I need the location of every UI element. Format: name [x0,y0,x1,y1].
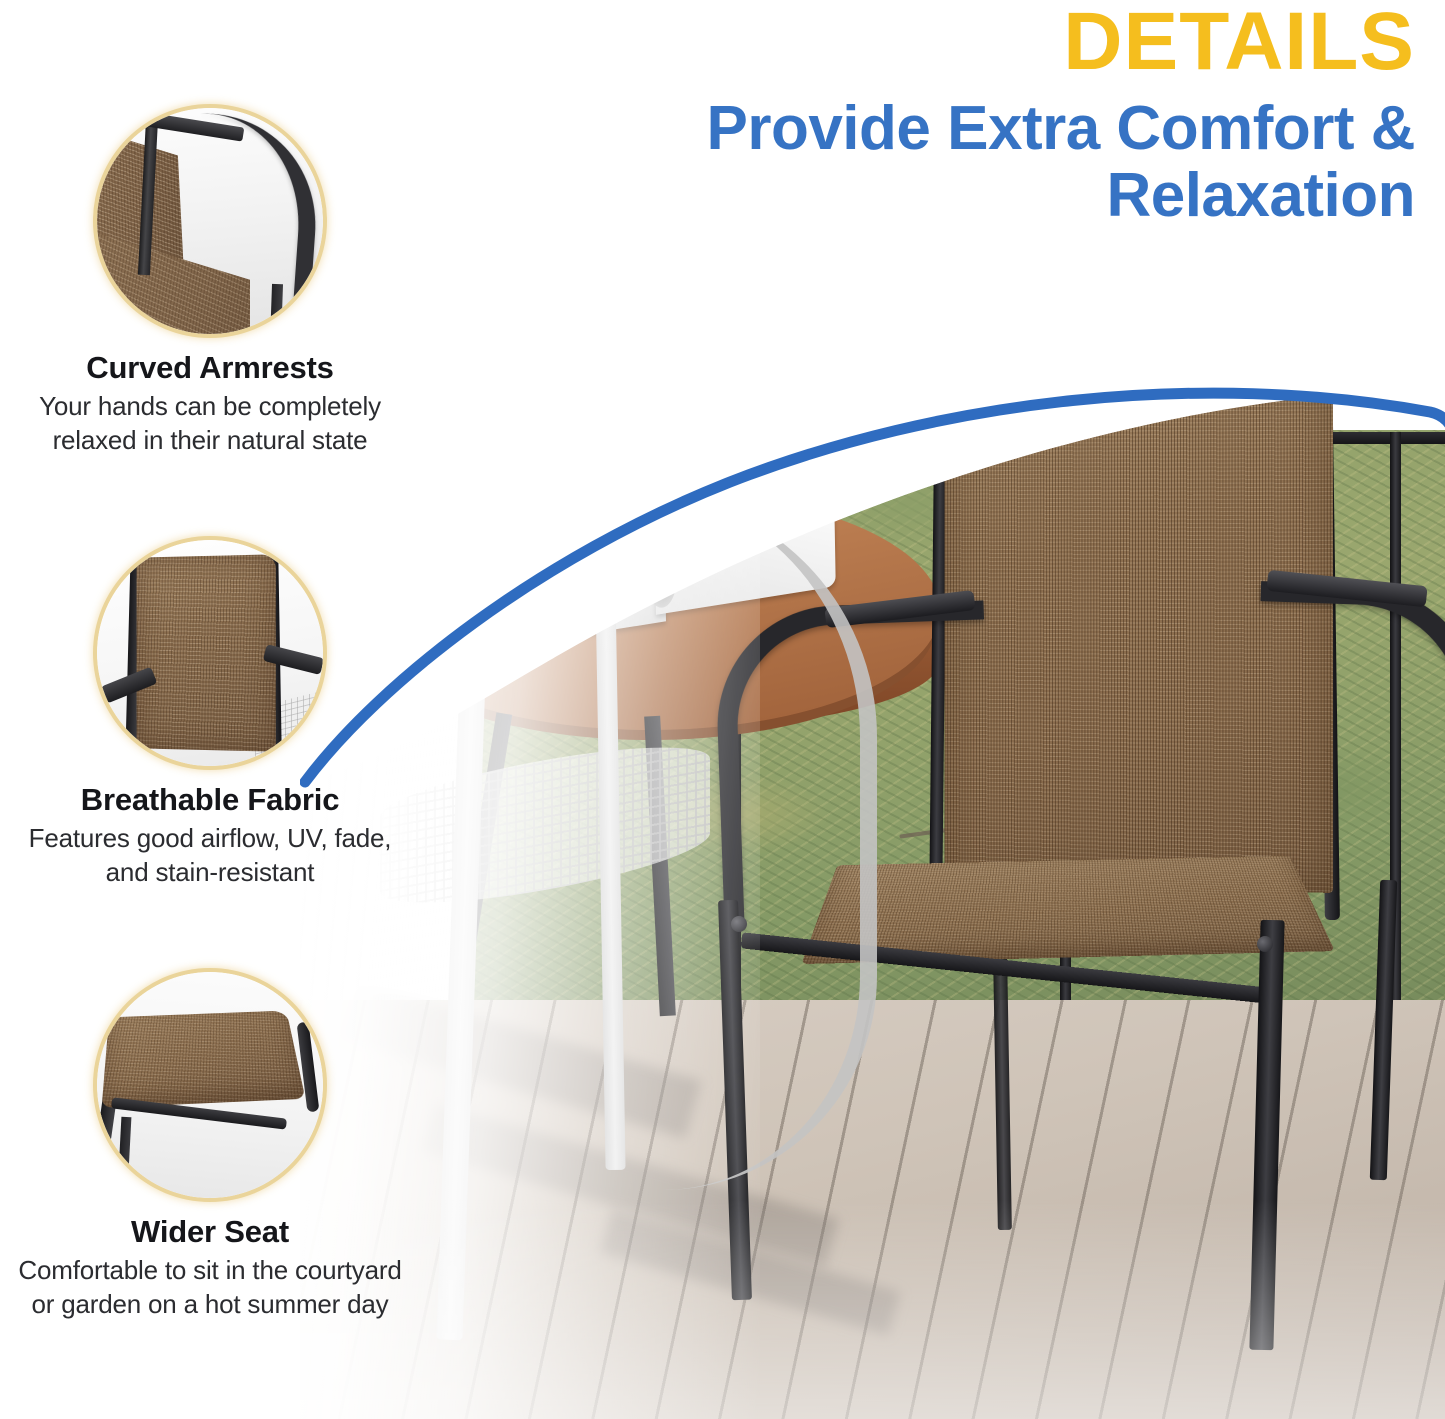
feature-desc-wider-seat-line1: Comfortable to sit in the courtyard [0,1254,420,1288]
detail-infographic-page: DETAILS Provide Extra Comfort & Relaxati… [0,0,1445,1419]
headline-line-1: Provide Extra Comfort & [706,94,1415,163]
headline-line-2: Relaxation [330,163,1415,230]
feature-desc-breathable-fabric-line2: and stain-resistant [0,856,420,890]
feature-title-curved-armrests: Curved Armrests [0,350,420,386]
chair-leg-front-right [1249,920,1284,1350]
chair-bolt [1257,936,1273,952]
feature-desc-wider-seat-line2: or garden on a hot summer day [0,1288,420,1322]
feature-image-curved-armrests [97,108,323,334]
feature-desc-curved-armrests-line1: Your hands can be completely [0,390,420,424]
chair-armrest-right [1249,581,1445,939]
feature-title-breathable-fabric: Breathable Fabric [0,782,420,818]
feature-image-breathable-fabric [97,540,323,766]
product-photo [300,360,1445,1419]
feature-wider-seat: Wider Seat Comfortable to sit in the cou… [0,972,420,1322]
feature-desc-curved-armrests-line2: relaxed in their natural state [0,424,420,458]
patio-scene [300,360,1445,1419]
page-title-eyebrow: DETAILS [330,0,1415,82]
page-headline: Provide Extra Comfort & Relaxation [330,82,1415,230]
feature-title-wider-seat: Wider Seat [0,1214,420,1250]
feature-breathable-fabric: Breathable Fabric Features good airflow,… [0,540,420,890]
header: DETAILS Provide Extra Comfort & Relaxati… [330,0,1415,230]
feature-image-wider-seat [97,972,323,1198]
feature-desc-breathable-fabric-line1: Features good airflow, UV, fade, [0,822,420,856]
